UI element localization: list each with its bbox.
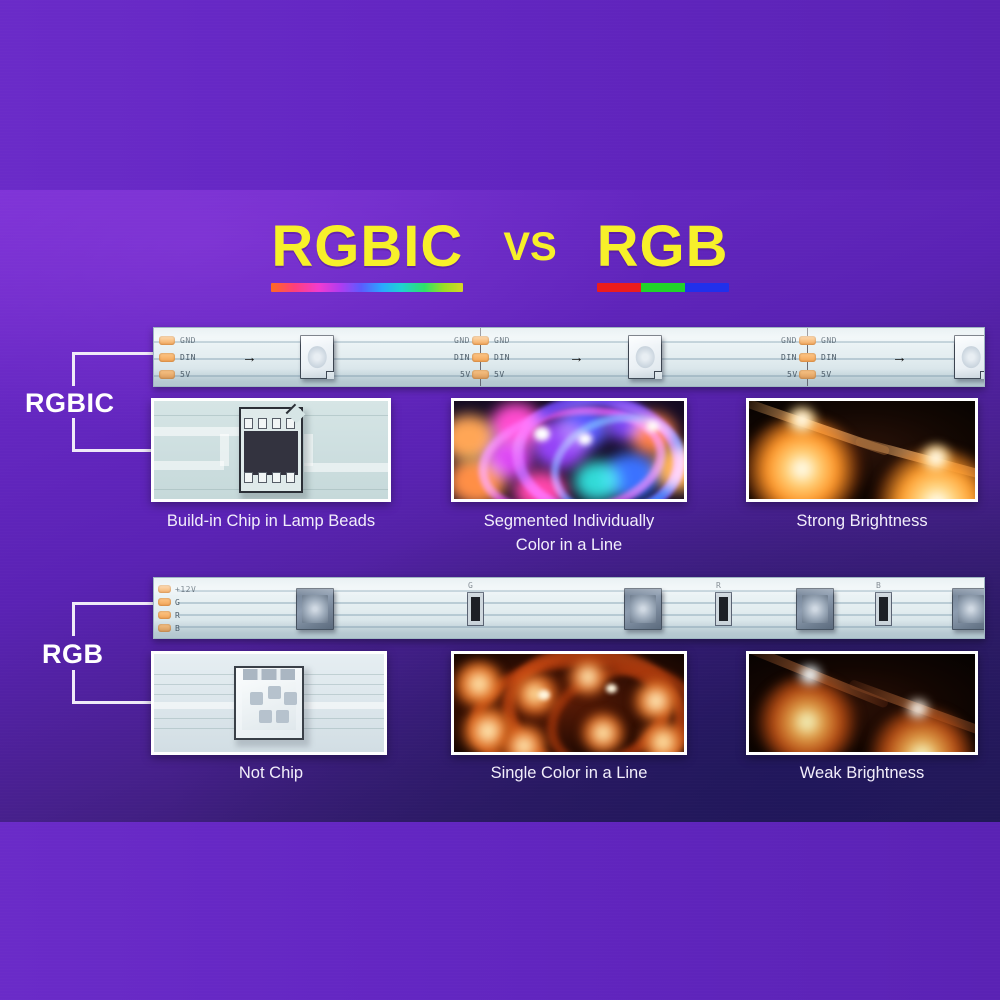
bracket-rgbic <box>72 352 156 452</box>
caption-build-in-chip: Build-in Chip in Lamp Beads <box>131 509 411 533</box>
resistor-label-g: G <box>468 581 473 590</box>
infographic-stage: RGBIC VS RGB RGBIC GND DIN 5V GND DIN 5V <box>0 0 1000 1000</box>
pad-label-5v-1r: 5V <box>494 370 505 379</box>
pad-label-g: G <box>175 598 180 607</box>
pad-label-din-1l: DIN <box>454 353 470 362</box>
caption-single-color: Single Color in a Line <box>447 761 691 785</box>
pad-g <box>158 598 171 606</box>
title-rgb: RGB <box>597 218 729 292</box>
rgb-led-1 <box>296 588 334 630</box>
photo-dim-orange-glow <box>746 651 978 755</box>
resistor-g <box>467 592 484 626</box>
resistor-label-r: R <box>716 581 721 590</box>
rgbic-led-strip: GND DIN 5V GND DIN 5V GND DIN 5V GND DIN… <box>153 327 985 387</box>
pad-label-gnd-1r: GND <box>494 336 510 345</box>
photo-plain-5050-led <box>151 651 387 755</box>
title-rgbic: RGBIC <box>271 218 463 292</box>
pad-5v-left <box>159 370 175 379</box>
rgb-led-3 <box>796 588 834 630</box>
data-direction-arrow-2: → <box>569 350 584 365</box>
rgbic-led-3 <box>954 335 985 379</box>
pad-label-din-2r: DIN <box>821 353 837 362</box>
title-rgb-text: RGB <box>597 218 729 276</box>
pad-label-din-2l: DIN <box>781 353 797 362</box>
ic-chip-graphic <box>239 407 303 493</box>
pad-label-gnd-0: GND <box>180 336 196 345</box>
caption-segmented-individually: Segmented Individually Color in a Line <box>447 509 691 557</box>
pad-12v <box>158 585 171 593</box>
rgb-led-4 <box>952 588 985 630</box>
caption-weak-brightness: Weak Brightness <box>742 761 982 785</box>
rgb-led-strip: +12V G R B G R B <box>153 577 985 639</box>
pad-label-5v-1l: 5V <box>460 370 471 379</box>
rgbic-led-1 <box>300 335 334 379</box>
pad-r <box>158 611 171 619</box>
title-rgbic-rainbow-underline <box>271 283 463 292</box>
caption-not-chip: Not Chip <box>131 761 411 785</box>
title-row: RGBIC VS RGB <box>0 218 1000 310</box>
rgb-led-2 <box>624 588 662 630</box>
caption-strong-brightness: Strong Brightness <box>742 509 982 533</box>
background-band-top <box>0 0 1000 190</box>
title-rgbic-text: RGBIC <box>271 218 463 276</box>
pad-label-5v-2r: 5V <box>821 370 832 379</box>
photo-multicolor-led-coil <box>451 398 687 502</box>
resistor-r <box>715 592 732 626</box>
pad-label-5v-2l: 5V <box>787 370 798 379</box>
background-band-bottom <box>0 822 1000 1000</box>
pad-gnd-left <box>159 336 175 345</box>
bracket-rgb <box>72 602 156 704</box>
pad-label-r: R <box>175 611 180 620</box>
pad-label-5v-0: 5V <box>180 370 191 379</box>
pad-label-gnd-2r: GND <box>821 336 837 345</box>
pad-b <box>158 624 171 632</box>
rgbic-led-2 <box>628 335 662 379</box>
pad-label-12v: +12V <box>175 585 196 594</box>
photo-bright-orange-glow <box>746 398 978 502</box>
data-direction-arrow-1: → <box>242 350 257 365</box>
data-direction-arrow-3: → <box>892 350 907 365</box>
title-rgb-segment-underline <box>597 283 729 292</box>
resistor-label-b: B <box>876 581 881 590</box>
photo-orange-led-coil <box>451 651 687 755</box>
pad-label-gnd-1l: GND <box>454 336 470 345</box>
resistor-b <box>875 592 892 626</box>
led-5050-graphic <box>234 666 304 740</box>
pad-label-b: B <box>175 624 180 633</box>
title-vs-text: VS <box>503 218 556 276</box>
photo-chip-on-pcb <box>151 398 391 502</box>
pad-label-gnd-2l: GND <box>781 336 797 345</box>
pad-label-din-1r: DIN <box>494 353 510 362</box>
pad-din-left <box>159 353 175 362</box>
pad-label-din-0: DIN <box>180 353 196 362</box>
